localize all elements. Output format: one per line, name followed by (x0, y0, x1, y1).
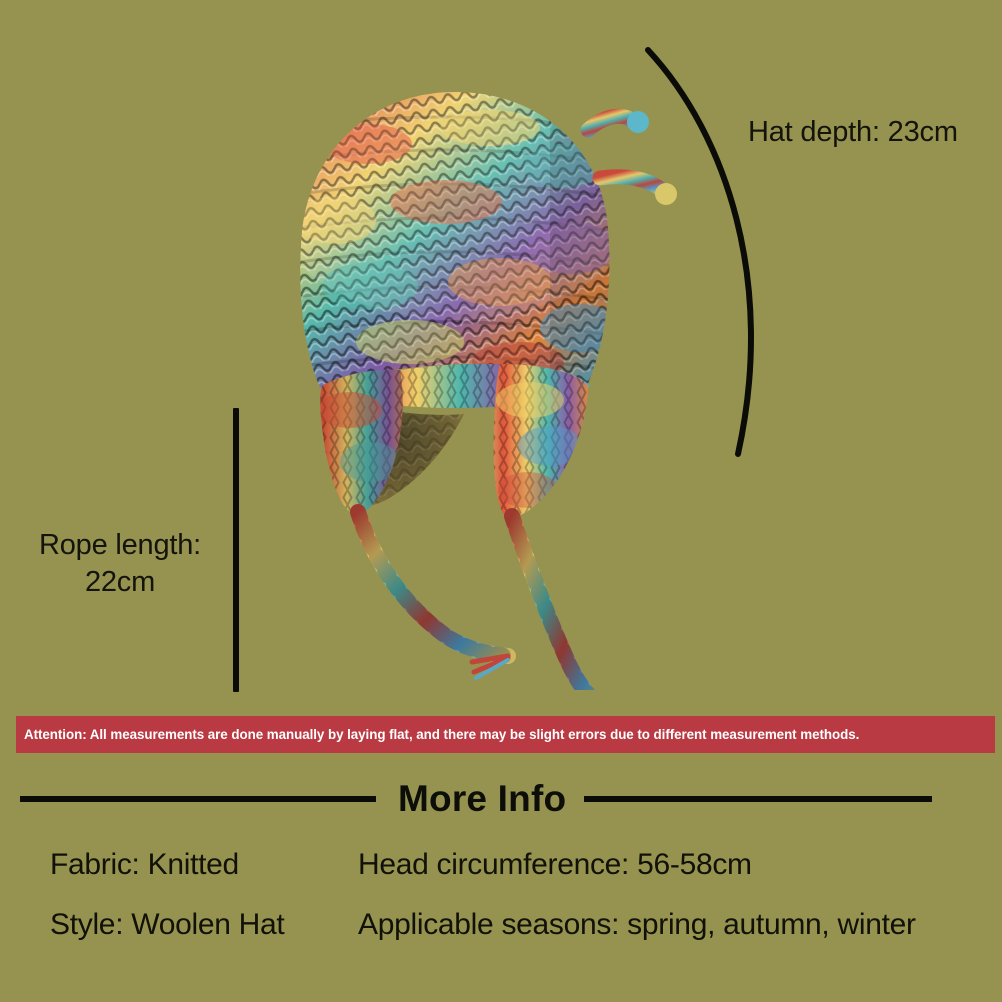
rope-length-label-line2: 22cm (16, 564, 224, 601)
spec-style: Style: Woolen Hat (50, 908, 358, 942)
spec-applicable-seasons: Applicable seasons: spring, autumn, wint… (358, 908, 990, 942)
product-image-knitted-hat (250, 70, 690, 690)
divider-right (584, 796, 932, 802)
spec-row: Fabric: Knitted Head circumference: 56-5… (50, 848, 990, 908)
more-info-title: More Info (398, 778, 566, 820)
spec-fabric: Fabric: Knitted (50, 848, 358, 882)
rope-length-label-line1: Rope length: (16, 527, 224, 564)
attention-text: Attention: All measurements are done man… (24, 727, 859, 742)
rope-length-bar-marker (233, 408, 239, 692)
divider-left (20, 796, 376, 802)
spec-head-circumference: Head circumference: 56-58cm (358, 848, 990, 882)
attention-banner: Attention: All measurements are done man… (16, 716, 995, 753)
spec-row: Style: Woolen Hat Applicable seasons: sp… (50, 908, 990, 968)
more-info-heading-row: More Info (0, 772, 1002, 826)
product-infographic: Hat depth: 23cm Rope length: 22cm Attent… (0, 0, 1002, 1002)
hat-depth-label: Hat depth: 23cm (748, 114, 958, 151)
specification-grid: Fabric: Knitted Head circumference: 56-5… (50, 848, 990, 968)
rope-length-label: Rope length: 22cm (16, 527, 224, 601)
